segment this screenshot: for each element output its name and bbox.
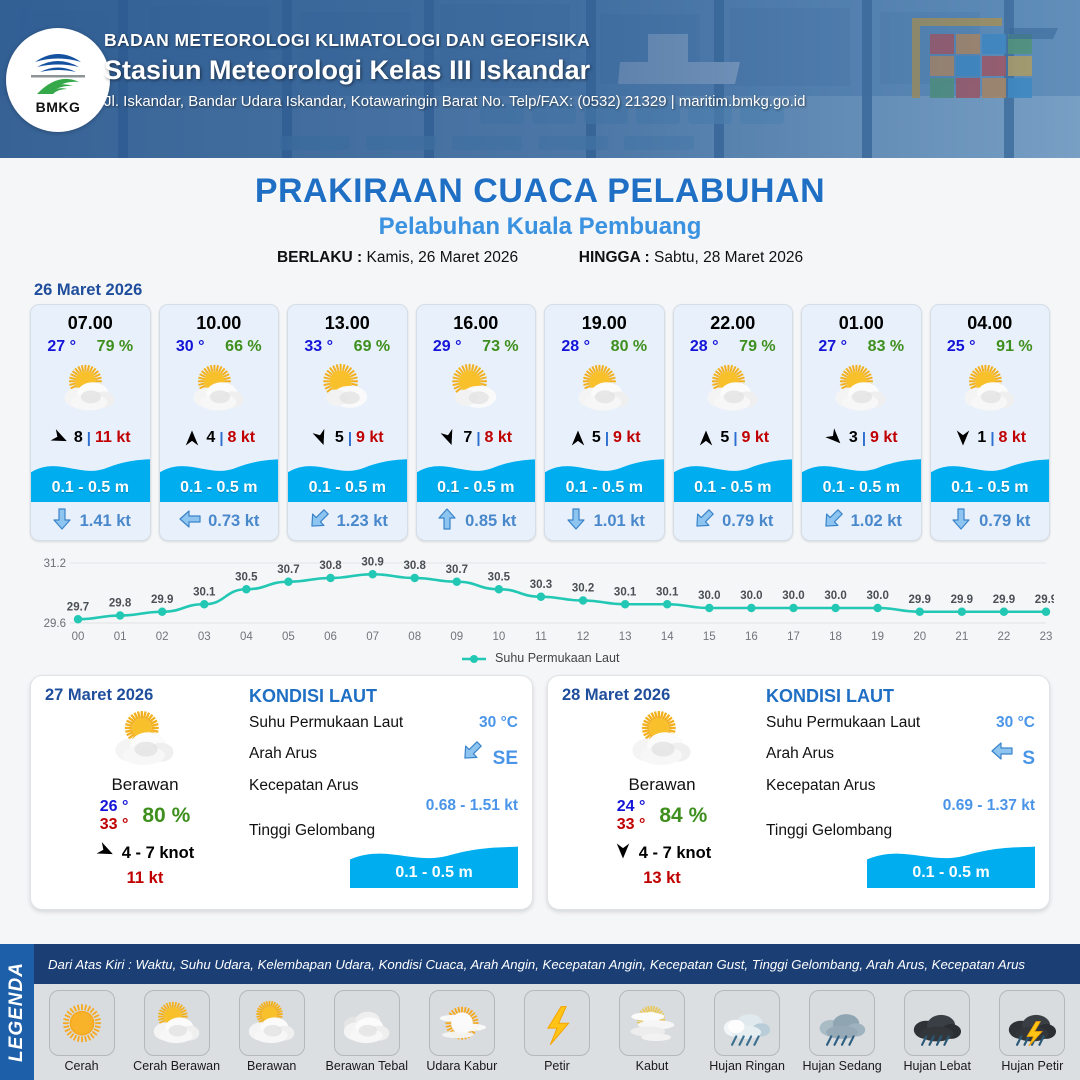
wind-direction-arrow-icon (613, 841, 633, 866)
svg-text:15: 15 (703, 631, 716, 643)
svg-text:30.3: 30.3 (530, 579, 552, 591)
wave-height-value: 0.1 - 0.5 m (674, 479, 793, 497)
weather-berawan-icon (239, 990, 305, 1056)
svg-text:30.0: 30.0 (824, 590, 846, 602)
legend-section: LEGENDA Dari Atas Kiri : Waktu, Suhu Uda… (0, 944, 1080, 1080)
wind-direction-arrow-icon (953, 428, 973, 448)
forecast-card: 04.00 25 ° 91 % 1 | 8 kt 0.1 - 0.5 m 0.7… (930, 304, 1051, 541)
weather-hujan-lebat-icon (904, 990, 970, 1056)
sst-row: Suhu Permukaan Laut 30 °C (766, 714, 1035, 732)
svg-text:06: 06 (324, 631, 337, 643)
title-block: PRAKIRAAN CUACA PELABUHAN Pelabuhan Kual… (0, 158, 1080, 267)
wave-height-value: 0.1 - 0.5 m (288, 479, 407, 497)
current-direction-value: SE (493, 748, 518, 769)
svg-text:30.0: 30.0 (866, 590, 888, 602)
wind-direction-arrow-icon (696, 428, 716, 448)
wind-speed-value: 3 (849, 429, 858, 447)
weather-berawan-icon (562, 707, 762, 773)
daily-date: 28 Maret 2026 (562, 686, 762, 705)
sea-condition-block: KONDISI LAUT Suhu Permukaan Laut 30 °C A… (245, 686, 518, 897)
svg-text:12: 12 (577, 631, 590, 643)
valid-until-value: Sabtu, 28 Maret 2026 (654, 249, 803, 266)
current-speed-value: 1.01 kt (594, 512, 645, 531)
legend-item: Petir (513, 990, 601, 1073)
current-speed-value: 0.73 kt (208, 512, 259, 531)
weather-cerah-berawan-tipis-icon (417, 356, 536, 422)
svg-text:30.0: 30.0 (698, 590, 720, 602)
wind-separator: | (219, 430, 223, 447)
current-speed-value: 1.23 kt (337, 512, 388, 531)
legend-item-label: Hujan Petir (988, 1059, 1076, 1073)
organization-name: BADAN METEOROLOGI KLIMATOLOGI DAN GEOFIS… (104, 30, 1070, 51)
svg-text:31.2: 31.2 (44, 558, 66, 570)
daily-temp-range: 24 ° 33 ° (617, 798, 646, 834)
header-text-block: BADAN METEOROLOGI KLIMATOLOGI DAN GEOFIS… (104, 30, 1070, 110)
card-values: 30 ° 66 % (160, 334, 279, 356)
current-direction-arrow-icon (460, 750, 484, 767)
svg-text:29.8: 29.8 (109, 598, 132, 610)
page-header: BMKG BADAN METEOROLOGI KLIMATOLOGI DAN G… (0, 0, 1080, 158)
current-speed-value: 1.02 kt (851, 512, 902, 531)
card-current: 0.73 kt (160, 502, 279, 540)
gust-value: 9 kt (870, 429, 898, 447)
card-time: 01.00 (802, 305, 921, 334)
daily-humidity: 84 % (659, 804, 707, 828)
card-values: 28 ° 79 % (674, 334, 793, 356)
card-wind: 7 | 8 kt (417, 422, 536, 454)
svg-text:30.0: 30.0 (782, 590, 804, 602)
daily-condition: Berawan (562, 775, 762, 795)
svg-text:29.9: 29.9 (1035, 594, 1054, 606)
card-values: 33 ° 69 % (288, 334, 407, 356)
wind-separator: | (733, 430, 737, 447)
hourly-forecast-list: 07.00 27 ° 79 % 8 | 11 kt 0.1 - 0.5 m 1.… (0, 304, 1080, 541)
card-wave: 0.1 - 0.5 m (417, 454, 536, 502)
svg-text:07: 07 (366, 631, 379, 643)
daily-date: 27 Maret 2026 (45, 686, 245, 705)
legend-item-label: Cerah Berawan (133, 1059, 221, 1073)
svg-text:08: 08 (408, 631, 421, 643)
daily-gust: 11 kt (45, 869, 245, 888)
svg-text:03: 03 (198, 631, 211, 643)
card-time: 16.00 (417, 305, 536, 334)
wind-direction-arrow-icon (825, 428, 845, 448)
svg-text:30.8: 30.8 (404, 560, 427, 572)
daily-panel: 27 Maret 2026 Berawan 26 ° 33 ° 80 % 4 -… (30, 675, 533, 910)
wind-speed-value: 1 (977, 429, 986, 447)
sst-value: 30 °C (479, 714, 518, 732)
legend-item-label: Petir (513, 1059, 601, 1073)
gust-value: 8 kt (999, 429, 1027, 447)
card-values: 25 ° 91 % (931, 334, 1050, 356)
sst-label: Suhu Permukaan Laut (766, 714, 920, 732)
legend-item-label: Hujan Lebat (893, 1059, 981, 1073)
daily-panel: 28 Maret 2026 Berawan 24 ° 33 ° 84 % 4 -… (547, 675, 1050, 910)
card-current: 0.79 kt (674, 502, 793, 540)
card-humidity: 79 % (739, 338, 775, 356)
card-temperature: 33 ° (304, 338, 333, 356)
sea-condition-title: KONDISI LAUT (249, 686, 518, 707)
wind-speed-value: 5 (720, 429, 729, 447)
svg-text:10: 10 (492, 631, 505, 643)
current-speed-value: 0.69 - 1.37 kt (766, 797, 1035, 815)
sst-chart-svg: 31.229.629.70029.80129.90230.10330.50430… (26, 549, 1054, 649)
current-direction-arrow-icon (178, 507, 202, 536)
gust-value: 9 kt (613, 429, 641, 447)
wind-direction-arrow-icon (50, 428, 70, 448)
legend-item: Hujan Lebat (893, 990, 981, 1073)
chart-legend: Suhu Permukaan Laut (0, 651, 1080, 665)
wind-direction-arrow-icon (568, 428, 588, 448)
svg-text:29.7: 29.7 (67, 601, 89, 613)
legend-items: Cerah Cerah Berawan Berawan Berawan Teba… (34, 984, 1080, 1080)
wave-height-value: 0.1 - 0.5 m (931, 479, 1050, 497)
forecast-card: 22.00 28 ° 79 % 5 | 9 kt 0.1 - 0.5 m 0.7… (673, 304, 794, 541)
svg-text:04: 04 (240, 631, 253, 643)
card-temperature: 28 ° (690, 338, 719, 356)
svg-text:19: 19 (871, 631, 884, 643)
svg-text:09: 09 (450, 631, 463, 643)
legend-item: Cerah Berawan (133, 990, 221, 1073)
svg-text:29.9: 29.9 (909, 594, 931, 606)
sst-row: Suhu Permukaan Laut 30 °C (249, 714, 518, 732)
card-wind: 3 | 9 kt (802, 422, 921, 454)
card-temperature: 27 ° (47, 338, 76, 356)
current-direction-arrow-icon (692, 507, 716, 536)
legend-item-label: Kabut (608, 1059, 696, 1073)
forecast-card: 13.00 33 ° 69 % 5 | 9 kt 0.1 - 0.5 m 1.2… (287, 304, 408, 541)
card-values: 28 ° 80 % (545, 334, 664, 356)
svg-text:30.7: 30.7 (277, 564, 299, 576)
card-temperature: 27 ° (818, 338, 847, 356)
weather-berawan-icon (45, 707, 245, 773)
svg-text:30.1: 30.1 (656, 586, 679, 598)
wave-height-label: Tinggi Gelombang (249, 822, 375, 840)
bmkg-logo: BMKG (6, 28, 110, 132)
wind-speed-value: 4 (206, 429, 215, 447)
card-wind: 4 | 8 kt (160, 422, 279, 454)
svg-text:29.6: 29.6 (44, 618, 66, 630)
current-direction-arrow-icon (50, 507, 74, 536)
sst-value: 30 °C (996, 714, 1035, 732)
current-speed-label: Kecepatan Arus (766, 777, 875, 795)
wind-separator: | (605, 430, 609, 447)
daily-wave-value: 0.1 - 0.5 m (350, 864, 518, 882)
card-temperature: 25 ° (947, 338, 976, 356)
svg-text:30.1: 30.1 (193, 586, 216, 598)
card-temperature: 29 ° (433, 338, 462, 356)
chart-legend-swatch (461, 654, 487, 664)
wind-speed-value: 5 (592, 429, 601, 447)
sea-condition-block: KONDISI LAUT Suhu Permukaan Laut 30 °C A… (762, 686, 1035, 897)
daily-temperature-block: 26 ° 33 ° 80 % (45, 798, 245, 834)
daily-wind-speed: 4 - 7 knot (639, 844, 711, 863)
wave-height-value: 0.1 - 0.5 m (417, 479, 536, 497)
card-wave: 0.1 - 0.5 m (288, 454, 407, 502)
weather-cerah-berawan-icon (31, 356, 150, 422)
card-time: 10.00 (160, 305, 279, 334)
wind-direction-arrow-icon (311, 428, 331, 448)
svg-text:30.8: 30.8 (319, 560, 342, 572)
card-wind: 8 | 11 kt (31, 422, 150, 454)
card-current: 1.23 kt (288, 502, 407, 540)
svg-text:30.2: 30.2 (572, 583, 594, 595)
card-humidity: 83 % (868, 338, 904, 356)
wave-height-value: 0.1 - 0.5 m (802, 479, 921, 497)
current-speed-value: 0.68 - 1.51 kt (249, 797, 518, 815)
daily-wind: 4 - 7 knot (45, 841, 245, 866)
svg-text:21: 21 (955, 631, 968, 643)
svg-text:30.5: 30.5 (488, 571, 511, 583)
legend-item: Hujan Sedang (798, 990, 886, 1073)
card-humidity: 80 % (611, 338, 647, 356)
svg-text:30.0: 30.0 (740, 590, 762, 602)
sst-chart: 31.229.629.70029.80129.90230.10330.50430… (26, 549, 1054, 649)
daily-temp-max: 33 ° (617, 816, 646, 834)
card-current: 0.79 kt (931, 502, 1050, 540)
forecast-card: 16.00 29 ° 73 % 7 | 8 kt 0.1 - 0.5 m 0.8… (416, 304, 537, 541)
weather-hujan-ringan-icon (714, 990, 780, 1056)
current-speed-label: Kecepatan Arus (249, 777, 358, 795)
legend-item-label: Udara Kabur (418, 1059, 506, 1073)
card-current: 0.85 kt (417, 502, 536, 540)
wind-speed-value: 8 (74, 429, 83, 447)
wave-height-value: 0.1 - 0.5 m (545, 479, 664, 497)
legend-item: Hujan Petir (988, 990, 1076, 1073)
current-direction-arrow-icon (564, 507, 588, 536)
current-direction-arrow-icon (990, 750, 1014, 767)
card-wind: 5 | 9 kt (674, 422, 793, 454)
legend-item: Berawan Tebal (323, 990, 411, 1073)
legend-item: Udara Kabur (418, 990, 506, 1073)
weather-berawan-tebal-icon (334, 990, 400, 1056)
card-wave: 0.1 - 0.5 m (802, 454, 921, 502)
gust-value: 8 kt (228, 429, 256, 447)
station-address: Jl. Iskandar, Bandar Udara Iskandar, Kot… (104, 93, 1070, 110)
wave-height-value: 0.1 - 0.5 m (31, 479, 150, 497)
current-speed-value: 0.79 kt (722, 512, 773, 531)
svg-text:05: 05 (282, 631, 295, 643)
bmkg-logo-mark (27, 46, 89, 98)
weather-cerah-berawan-icon (674, 356, 793, 422)
current-direction-arrow-icon (307, 507, 331, 536)
svg-text:17: 17 (787, 631, 800, 643)
daily-temp-max: 33 ° (100, 816, 129, 834)
legend-item-label: Cerah (38, 1059, 126, 1073)
daily-temp-min: 26 ° (100, 798, 129, 816)
card-current: 1.02 kt (802, 502, 921, 540)
svg-text:30.7: 30.7 (446, 564, 468, 576)
card-wave: 0.1 - 0.5 m (160, 454, 279, 502)
svg-text:18: 18 (829, 631, 842, 643)
svg-text:29.9: 29.9 (951, 594, 973, 606)
wind-separator: | (87, 430, 91, 447)
svg-text:30.9: 30.9 (361, 556, 383, 568)
forecast-card: 01.00 27 ° 83 % 3 | 9 kt 0.1 - 0.5 m 1.0… (801, 304, 922, 541)
daily-wave-value: 0.1 - 0.5 m (867, 864, 1035, 882)
current-direction-group: SE (460, 739, 518, 770)
current-direction-group: S (990, 739, 1035, 770)
daily-condition: Berawan (45, 775, 245, 795)
wind-direction-arrow-icon (182, 428, 202, 448)
chart-legend-label: Suhu Permukaan Laut (495, 651, 619, 665)
logo-text: BMKG (36, 99, 81, 115)
svg-text:02: 02 (156, 631, 169, 643)
card-humidity: 66 % (225, 338, 261, 356)
weather-cerah-berawan-icon (160, 356, 279, 422)
daily-temp-min: 24 ° (617, 798, 646, 816)
daily-wave-band: 0.1 - 0.5 m (867, 842, 1035, 888)
gust-value: 8 kt (485, 429, 513, 447)
wind-speed-value: 7 (463, 429, 472, 447)
card-current: 1.41 kt (31, 502, 150, 540)
daily-humidity: 80 % (142, 804, 190, 828)
daily-temp-range: 26 ° 33 ° (100, 798, 129, 834)
weather-cerah-berawan-tipis-icon (288, 356, 407, 422)
daily-wind: 4 - 7 knot (562, 841, 762, 866)
weather-hujan-petir-icon (999, 990, 1065, 1056)
wave-height-row: Tinggi Gelombang (249, 822, 518, 840)
legend-item: Cerah (38, 990, 126, 1073)
valid-until-label: HINGGA : (579, 249, 650, 266)
forecast-card: 07.00 27 ° 79 % 8 | 11 kt 0.1 - 0.5 m 1.… (30, 304, 151, 541)
current-direction-arrow-icon (821, 507, 845, 536)
weather-petir-icon (524, 990, 590, 1056)
forecast-card: 10.00 30 ° 66 % 4 | 8 kt 0.1 - 0.5 m 0.7… (159, 304, 280, 541)
weather-cerah-berawan-icon (144, 990, 210, 1056)
legend-item-label: Berawan Tebal (323, 1059, 411, 1073)
wind-separator: | (862, 430, 866, 447)
current-direction-arrow-icon (949, 507, 973, 536)
svg-text:14: 14 (661, 631, 674, 643)
wind-direction-arrow-icon (439, 428, 459, 448)
daily-wave-band: 0.1 - 0.5 m (350, 842, 518, 888)
card-wind: 5 | 9 kt (288, 422, 407, 454)
weather-cerah-berawan-icon (802, 356, 921, 422)
card-time: 04.00 (931, 305, 1050, 334)
card-temperature: 28 ° (561, 338, 590, 356)
card-humidity: 69 % (354, 338, 390, 356)
card-temperature: 30 ° (176, 338, 205, 356)
current-speed-value: 1.41 kt (80, 512, 131, 531)
svg-text:13: 13 (619, 631, 632, 643)
card-values: 27 ° 79 % (31, 334, 150, 356)
valid-from-label: BERLAKU : (277, 249, 362, 266)
weather-cerah-icon (49, 990, 115, 1056)
gust-value: 9 kt (742, 429, 770, 447)
weather-hujan-sedang-icon (809, 990, 875, 1056)
weather-kabut-icon (619, 990, 685, 1056)
svg-text:16: 16 (745, 631, 758, 643)
legend-item: Kabut (608, 990, 696, 1073)
card-time: 22.00 (674, 305, 793, 334)
wind-separator: | (348, 430, 352, 447)
wave-height-label: Tinggi Gelombang (766, 822, 892, 840)
card-wave: 0.1 - 0.5 m (545, 454, 664, 502)
legend-note: Dari Atas Kiri : Waktu, Suhu Udara, Kele… (34, 944, 1080, 984)
legend-item: Berawan (228, 990, 316, 1073)
current-speed-row: Kecepatan Arus (249, 777, 518, 795)
svg-text:01: 01 (114, 631, 127, 643)
card-values: 29 ° 73 % (417, 334, 536, 356)
current-direction-label: Arah Arus (249, 745, 317, 763)
card-humidity: 79 % (97, 338, 133, 356)
legend-item-label: Berawan (228, 1059, 316, 1073)
svg-text:29.9: 29.9 (993, 594, 1015, 606)
svg-text:30.5: 30.5 (235, 571, 258, 583)
legend-item: Hujan Ringan (703, 990, 791, 1073)
wind-separator: | (990, 430, 994, 447)
card-humidity: 73 % (482, 338, 518, 356)
sea-condition-title: KONDISI LAUT (766, 686, 1035, 707)
gust-value: 11 kt (95, 429, 131, 447)
svg-text:22: 22 (998, 631, 1011, 643)
legend-item-label: Hujan Ringan (703, 1059, 791, 1073)
svg-text:30.1: 30.1 (614, 586, 637, 598)
svg-text:00: 00 (72, 631, 85, 643)
page-title: PRAKIRAAN CUACA PELABUHAN (0, 172, 1080, 211)
current-speed-row: Kecepatan Arus (766, 777, 1035, 795)
svg-text:23: 23 (1040, 631, 1053, 643)
daily-temperature-block: 24 ° 33 ° 84 % (562, 798, 762, 834)
wave-height-row: Tinggi Gelombang (766, 822, 1035, 840)
current-direction-row: Arah Arus SE (249, 739, 518, 770)
card-wave: 0.1 - 0.5 m (31, 454, 150, 502)
card-humidity: 91 % (996, 338, 1032, 356)
card-time: 19.00 (545, 305, 664, 334)
daily-wind-speed: 4 - 7 knot (122, 844, 194, 863)
current-speed-value: 0.79 kt (979, 512, 1030, 531)
card-wave: 0.1 - 0.5 m (674, 454, 793, 502)
daily-summary: 28 Maret 2026 Berawan 24 ° 33 ° 84 % 4 -… (562, 686, 762, 897)
svg-text:29.9: 29.9 (151, 594, 173, 606)
daily-forecast-panels: 27 Maret 2026 Berawan 26 ° 33 ° 80 % 4 -… (0, 665, 1080, 910)
current-direction-value: S (1022, 748, 1035, 769)
card-wind: 1 | 8 kt (931, 422, 1050, 454)
wind-speed-value: 5 (335, 429, 344, 447)
current-direction-arrow-icon (435, 507, 459, 536)
card-time: 13.00 (288, 305, 407, 334)
gust-value: 9 kt (356, 429, 384, 447)
weather-cerah-berawan-icon (931, 356, 1050, 422)
wind-direction-arrow-icon (96, 841, 116, 866)
card-wave: 0.1 - 0.5 m (931, 454, 1050, 502)
svg-text:11: 11 (535, 631, 547, 643)
page-subtitle: Pelabuhan Kuala Pembuang (0, 213, 1080, 241)
validity-row: BERLAKU : Kamis, 26 Maret 2026 HINGGA : … (0, 249, 1080, 267)
current-speed-value: 0.85 kt (465, 512, 516, 531)
card-values: 27 ° 83 % (802, 334, 921, 356)
forecast-card: 19.00 28 ° 80 % 5 | 9 kt 0.1 - 0.5 m 1.0… (544, 304, 665, 541)
daily-summary: 27 Maret 2026 Berawan 26 ° 33 ° 80 % 4 -… (45, 686, 245, 897)
legend-item-label: Hujan Sedang (798, 1059, 886, 1073)
card-time: 07.00 (31, 305, 150, 334)
current-direction-row: Arah Arus S (766, 739, 1035, 770)
card-wind: 5 | 9 kt (545, 422, 664, 454)
svg-text:20: 20 (913, 631, 926, 643)
daily-gust: 13 kt (562, 869, 762, 888)
card-current: 1.01 kt (545, 502, 664, 540)
valid-from-value: Kamis, 26 Maret 2026 (367, 249, 519, 266)
wind-separator: | (476, 430, 480, 447)
wave-height-value: 0.1 - 0.5 m (160, 479, 279, 497)
sst-label: Suhu Permukaan Laut (249, 714, 403, 732)
current-direction-label: Arah Arus (766, 745, 834, 763)
legend-side-label: LEGENDA (6, 962, 28, 1062)
weather-cerah-berawan-icon (545, 356, 664, 422)
hourly-date: 26 Maret 2026 (34, 281, 1080, 300)
station-name: Stasiun Meteorologi Kelas III Iskandar (104, 55, 1070, 86)
